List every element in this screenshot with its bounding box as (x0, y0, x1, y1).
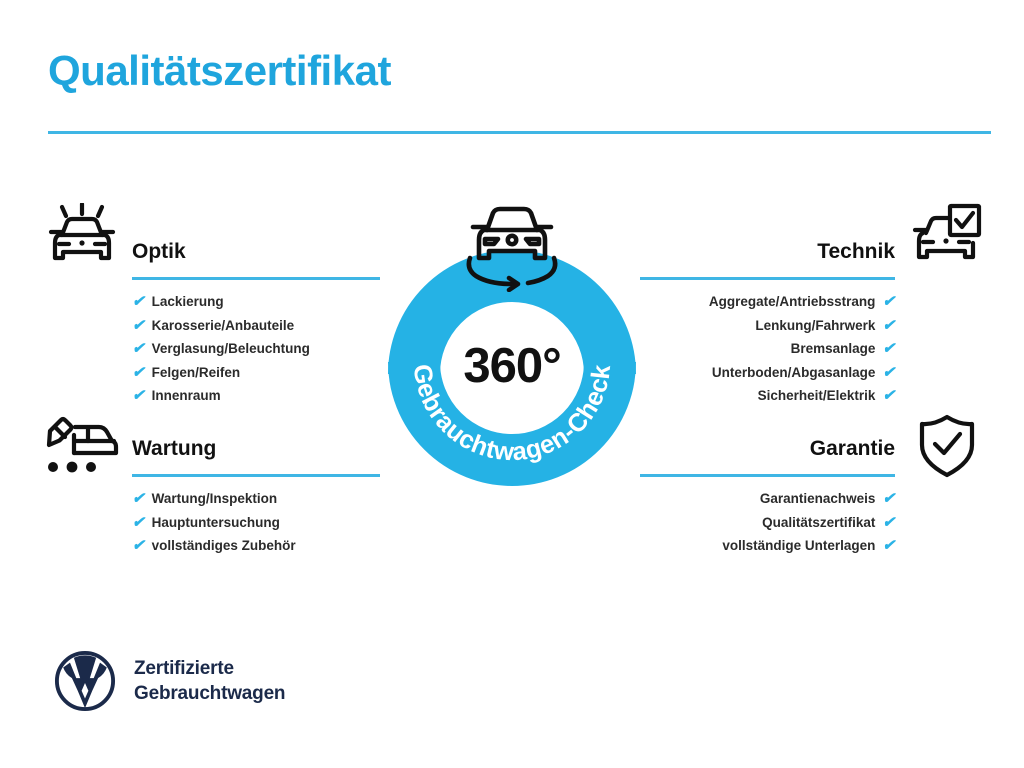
vw-logo-icon (54, 650, 116, 712)
check-icon: ✔ (882, 515, 895, 530)
check-icon: ✔ (132, 515, 145, 530)
service-pencil-car-icon (44, 415, 122, 482)
list-item: Bremsanlage✔ (640, 337, 895, 361)
section-title: Technik (640, 238, 895, 266)
check-icon: ✔ (882, 365, 895, 380)
check-icon: ✔ (132, 388, 145, 403)
list-item-label: vollständiges Zubehör (152, 534, 296, 558)
list-item-label: Unterboden/Abgasanlage (712, 361, 876, 385)
list-item: Aggregate/Antriebsstrang✔ (640, 290, 895, 314)
list-item: ✔Karosserie/Anbauteile (132, 314, 380, 338)
list-item: ✔Felgen/Reifen (132, 361, 380, 385)
checklist: ✔Lackierung ✔Karosserie/Anbauteile ✔Verg… (132, 290, 380, 408)
list-item-label: Verglasung/Beleuchtung (152, 337, 310, 361)
section-technik: Technik Aggregate/Antriebsstrang✔ Lenkun… (640, 238, 895, 408)
vw-wordmark-line1: Zertifizierte (134, 656, 285, 681)
vw-wordmark-line2: Gebrauchtwagen (134, 681, 285, 706)
check-icon: ✔ (132, 318, 145, 333)
check-icon: ✔ (882, 341, 895, 356)
section-header: Technik (640, 238, 895, 280)
list-item-label: Lackierung (152, 290, 224, 314)
checklist: ✔Wartung/Inspektion ✔Hauptuntersuchung ✔… (132, 487, 380, 558)
list-item: ✔Verglasung/Beleuchtung (132, 337, 380, 361)
section-underline (132, 277, 380, 280)
list-item: Garantienachweis✔ (640, 487, 895, 511)
title-divider (48, 131, 991, 134)
check-icon: ✔ (882, 538, 895, 553)
vw-certified-logo: Zertifizierte Gebrauchtwagen (54, 650, 285, 712)
section-header: Optik (132, 238, 380, 280)
check-icon: ✔ (132, 491, 145, 506)
check-icon: ✔ (132, 341, 145, 356)
check-icon: ✔ (132, 538, 145, 553)
check-icon: ✔ (132, 365, 145, 380)
list-item-label: Qualitätszertifikat (762, 511, 875, 535)
check-icon: ✔ (882, 294, 895, 309)
check-icon: ✔ (882, 388, 895, 403)
section-title: Wartung (132, 435, 380, 463)
list-item: ✔vollständiges Zubehör (132, 534, 380, 558)
list-item-label: Hauptuntersuchung (152, 511, 280, 535)
car-shine-icon (47, 203, 119, 274)
check-icon: ✔ (882, 491, 895, 506)
list-item: ✔Wartung/Inspektion (132, 487, 380, 511)
list-item: Qualitätszertifikat✔ (640, 511, 895, 535)
list-item: Sicherheit/Elektrik✔ (640, 384, 895, 408)
list-item-label: Karosserie/Anbauteile (152, 314, 295, 338)
list-item: vollständige Unterlagen✔ (640, 534, 895, 558)
list-item: Lenkung/Fahrwerk✔ (640, 314, 895, 338)
list-item-label: Garantienachweis (760, 487, 876, 511)
section-header: Wartung (132, 435, 380, 477)
list-item-label: Innenraum (152, 384, 221, 408)
checklist: Garantienachweis✔ Qualitätszertifikat✔ v… (640, 487, 895, 558)
list-item: ✔Lackierung (132, 290, 380, 314)
section-header: Garantie (640, 435, 895, 477)
list-item-label: Felgen/Reifen (152, 361, 241, 385)
list-item-label: Bremsanlage (791, 337, 876, 361)
list-item-label: Lenkung/Fahrwerk (755, 314, 875, 338)
section-optik: Optik ✔Lackierung ✔Karosserie/Anbauteile… (132, 238, 380, 408)
car-checkbox-icon (912, 203, 982, 274)
360-check-badge: Gebrauchtwagen-Check 360° (378, 196, 646, 488)
list-item-label: Sicherheit/Elektrik (758, 384, 876, 408)
list-item: ✔Hauptuntersuchung (132, 511, 380, 535)
list-item: ✔Innenraum (132, 384, 380, 408)
list-item-label: vollständige Unterlagen (722, 534, 875, 558)
car-rotation-icon (456, 196, 568, 292)
page-title: Qualitätszertifikat (48, 48, 391, 94)
section-title: Optik (132, 238, 380, 266)
check-icon: ✔ (882, 318, 895, 333)
section-garantie: Garantie Garantienachweis✔ Qualitätszert… (640, 435, 895, 558)
section-underline (132, 474, 380, 477)
list-item: Unterboden/Abgasanlage✔ (640, 361, 895, 385)
section-underline (640, 474, 895, 477)
section-wartung: Wartung ✔Wartung/Inspektion ✔Hauptunters… (132, 435, 380, 558)
list-item-label: Aggregate/Antriebsstrang (709, 290, 876, 314)
list-item-label: Wartung/Inspektion (152, 487, 278, 511)
badge-center-value: 360° (378, 338, 646, 394)
section-title: Garantie (640, 435, 895, 463)
section-underline (640, 277, 895, 280)
checklist: Aggregate/Antriebsstrang✔ Lenkung/Fahrwe… (640, 290, 895, 408)
vw-wordmark: Zertifizierte Gebrauchtwagen (134, 656, 285, 706)
check-icon: ✔ (132, 294, 145, 309)
shield-check-icon (918, 414, 976, 483)
